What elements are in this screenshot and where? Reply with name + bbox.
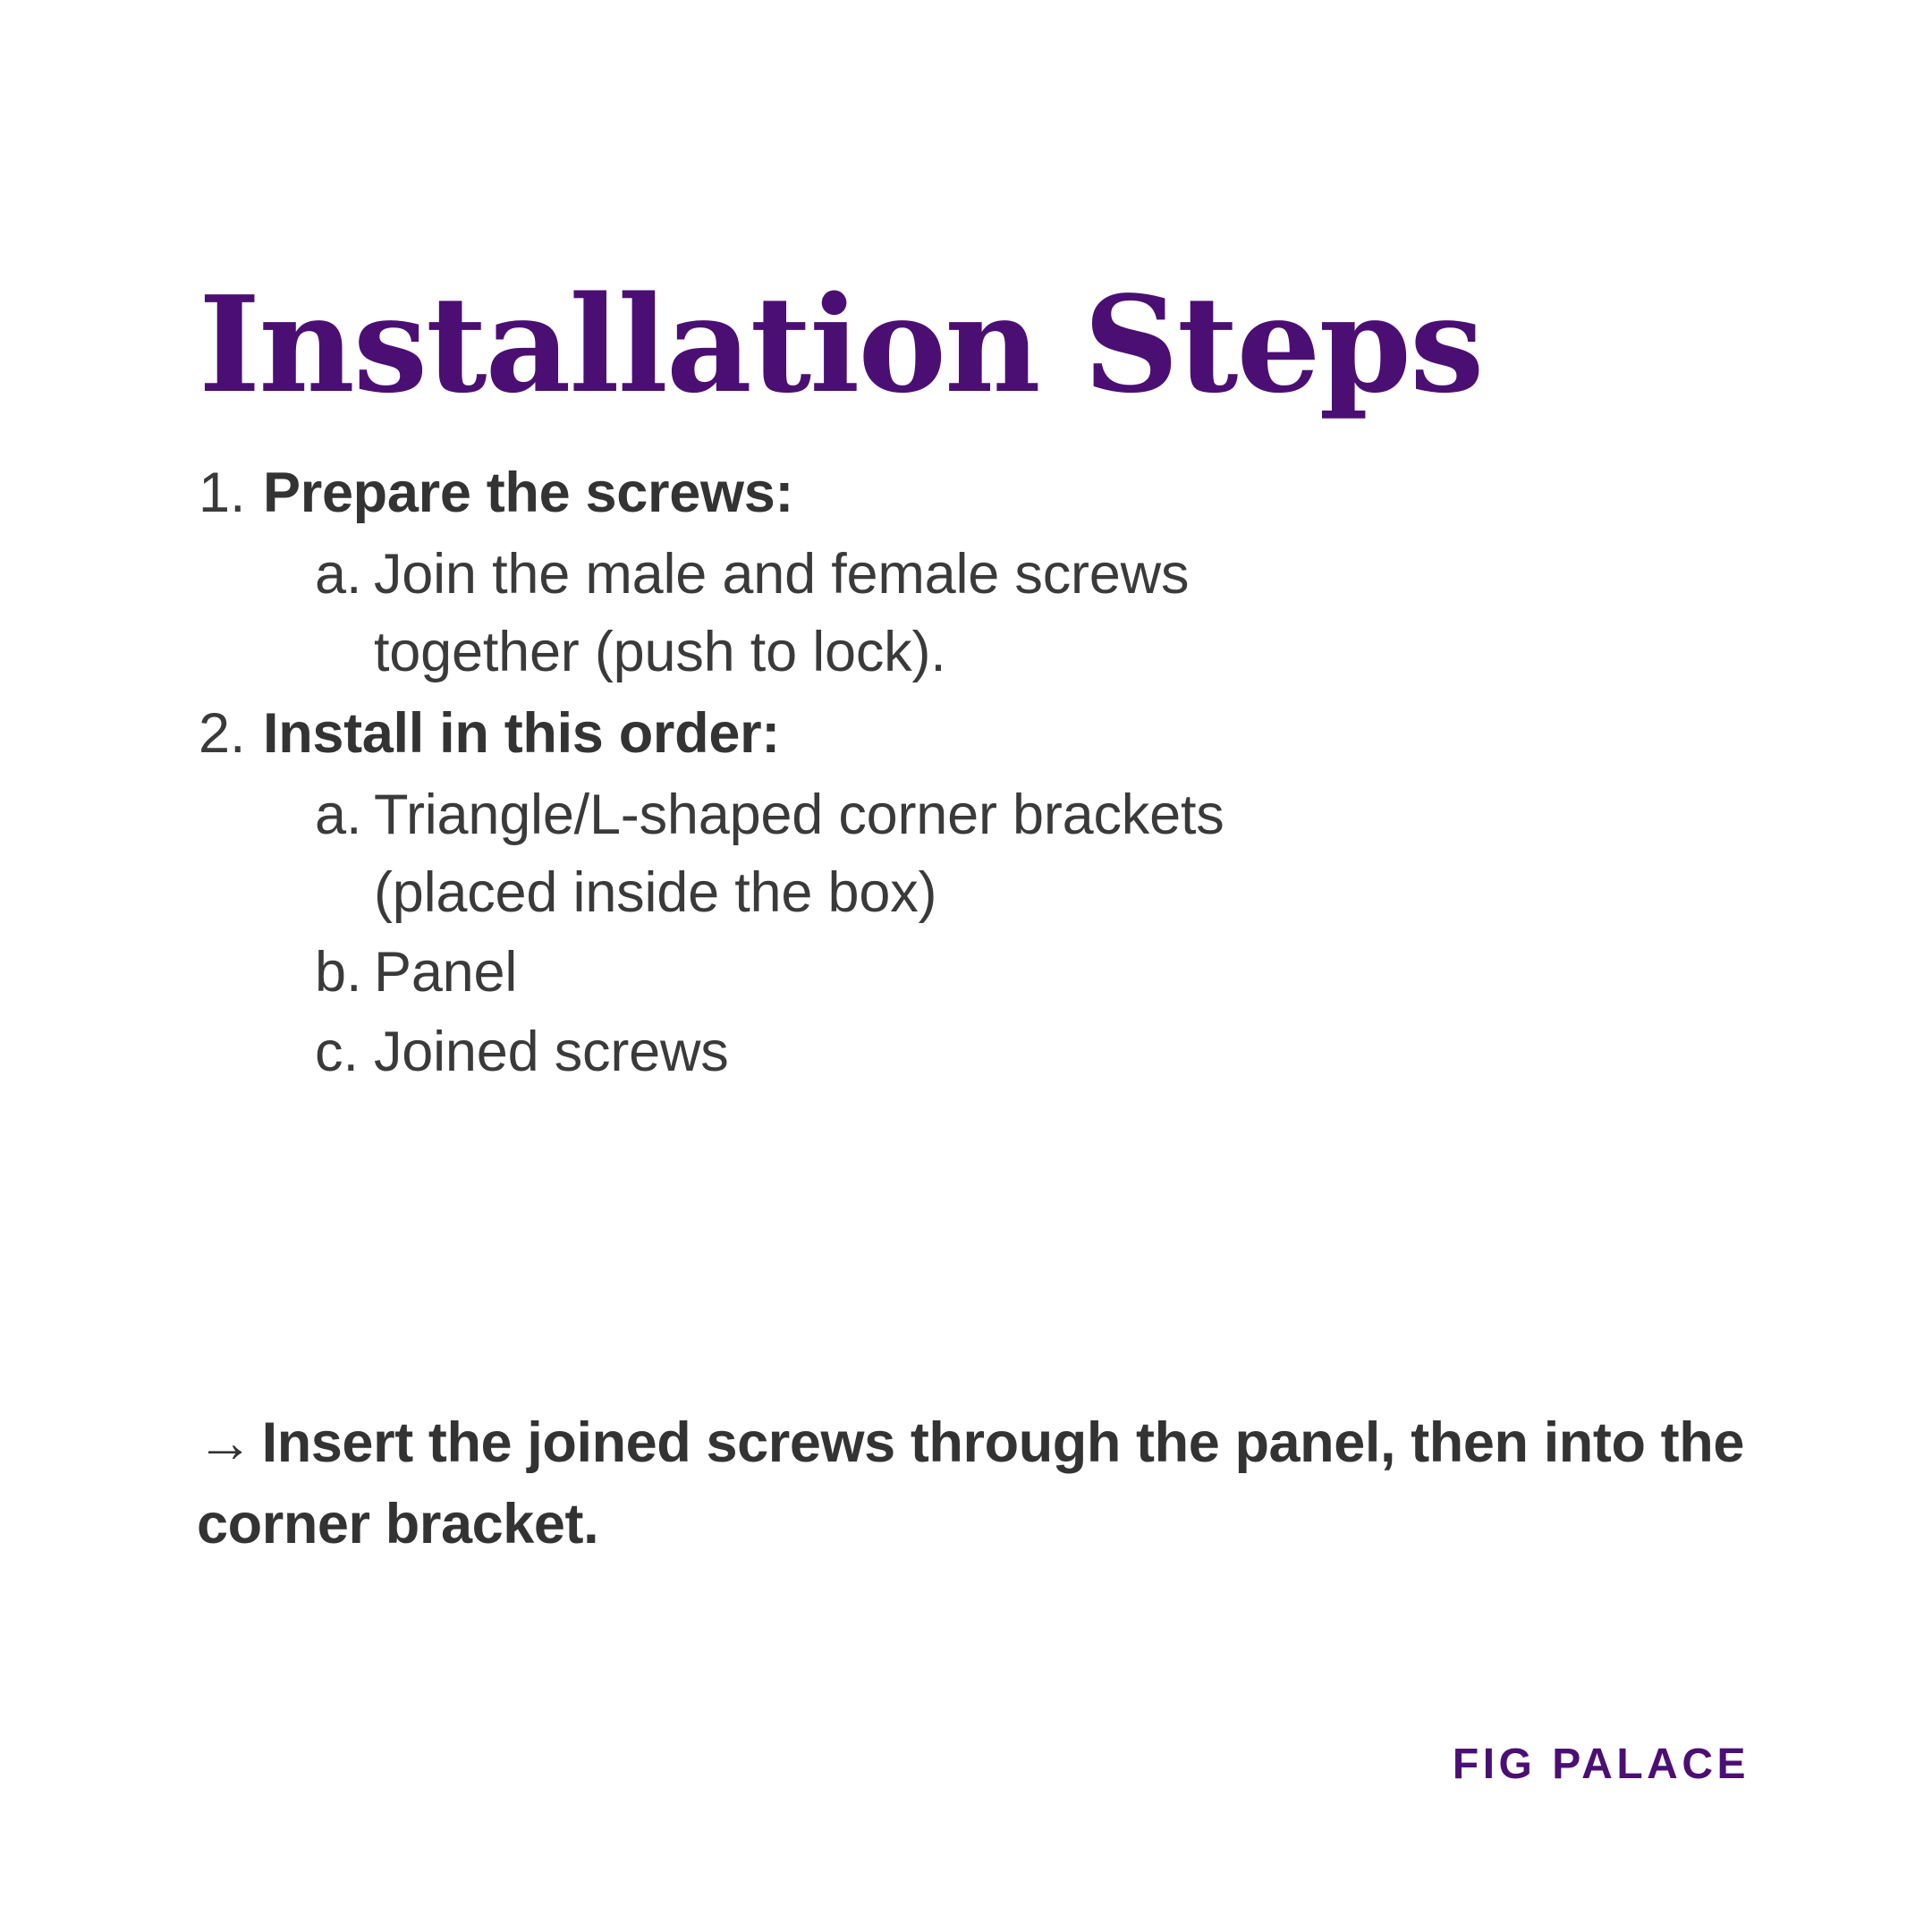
sublist: a. Triangle/L-shaped corner brackets (pl…: [199, 776, 1719, 1091]
sublist-marker: a.: [315, 776, 374, 854]
sublist: a. Join the male and female screws toget…: [199, 536, 1719, 691]
sublist-item-text: Join the male and female screws together…: [374, 536, 1349, 691]
list-marker: 1.: [199, 456, 263, 530]
list-marker: 2.: [199, 697, 263, 771]
list-item: 2. Install in this order:: [199, 697, 1719, 771]
callout-text: Insert the joined screws through the pan…: [197, 1411, 1744, 1555]
arrow-right-icon: →: [197, 1411, 262, 1474]
installation-steps-list: 1. Prepare the screws: a. Join the male …: [199, 456, 1719, 1097]
sublist-item: a. Join the male and female screws toget…: [199, 536, 1719, 691]
page-title: Installation Steps: [199, 278, 1482, 411]
sublist-marker: a.: [315, 536, 374, 614]
list-item-label: Prepare the screws:: [263, 456, 1719, 530]
sublist-marker: c.: [315, 1013, 374, 1091]
sublist-marker: b.: [315, 934, 374, 1012]
sublist-item-text: Triangle/L-shaped corner brackets (place…: [374, 776, 1349, 932]
list-item: 1. Prepare the screws:: [199, 456, 1719, 530]
list-item-label: Install in this order:: [263, 697, 1719, 771]
slide-canvas: Installation Steps 1. Prepare the screws…: [0, 0, 1932, 1932]
sublist-item: a. Triangle/L-shaped corner brackets (pl…: [199, 776, 1719, 932]
sublist-item-text: Joined screws: [374, 1013, 1349, 1091]
sublist-item: c. Joined screws: [199, 1013, 1719, 1091]
brand-wordmark: FIG PALACE: [1453, 1740, 1750, 1789]
sublist-item-text: Panel: [374, 934, 1349, 1012]
callout-paragraph: →Insert the joined screws through the pa…: [197, 1402, 1744, 1566]
sublist-item: b. Panel: [199, 934, 1719, 1012]
